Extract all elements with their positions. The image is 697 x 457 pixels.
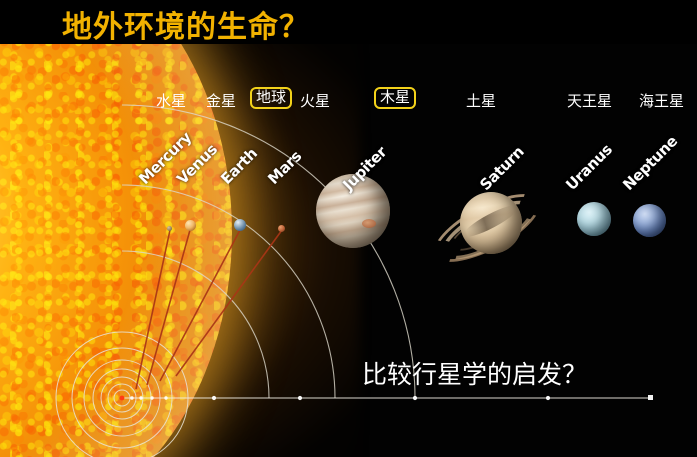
slide-canvas: 地外环境的生命？ 水星 金星 地球 火星 木星 土星 天王星 海王星 Mercu…	[0, 0, 697, 457]
planet-venus	[185, 220, 196, 231]
planet-neptune	[633, 204, 666, 237]
cn-label-jupiter: 木星	[374, 87, 416, 109]
cn-label-saturn: 土星	[466, 90, 496, 111]
planet-uranus	[577, 202, 611, 236]
planet-earth	[234, 219, 246, 231]
cn-label-uranus: 天王星	[567, 90, 612, 111]
cn-label-neptune: 海王星	[639, 90, 684, 111]
cn-label-earth: 地球	[250, 87, 292, 109]
sun-limb-highlight	[0, 44, 232, 457]
footnote-text: 比较行星学的启发？	[362, 355, 587, 391]
planet-saturn-group	[424, 180, 544, 290]
planet-mercury	[167, 226, 172, 231]
great-red-spot	[362, 219, 376, 228]
page-title: 地外环境的生命？	[62, 2, 310, 46]
cn-label-mercury: 水星	[156, 90, 186, 111]
cn-label-venus: 金星	[206, 90, 236, 111]
sun-disc	[0, 44, 232, 457]
planet-mars	[278, 225, 285, 232]
cn-label-mars: 火星	[300, 90, 330, 111]
title-band: 地外环境的生命？	[0, 0, 697, 44]
